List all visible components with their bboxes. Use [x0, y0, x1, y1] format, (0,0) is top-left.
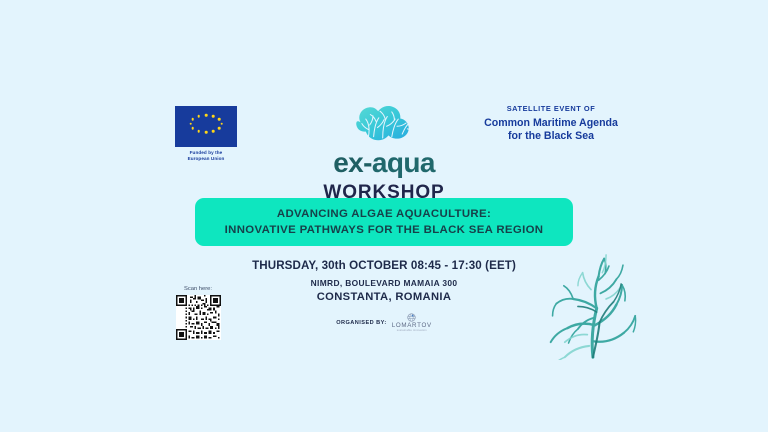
- event-details: THURSDAY, 30th OCTOBER 08:45 - 17:30 (EE…: [0, 258, 768, 305]
- brand-name: ex-aqua: [0, 148, 768, 178]
- title-banner: ADVANCING ALGAE AQUACULTURE: INNOVATIVE …: [195, 198, 573, 246]
- brand-block: ex-aqua WORKSHOP: [0, 100, 768, 204]
- event-date: THURSDAY, 30th OCTOBER 08:45 - 17:30 (EE…: [0, 258, 768, 273]
- event-city: CONSTANTA, ROMANIA: [0, 290, 768, 305]
- satellite-event-block: SATELLITE EVENT OF Common Maritime Agend…: [470, 104, 632, 142]
- globe-icon: [407, 313, 416, 322]
- organiser-tagline: sustainable innovation: [397, 330, 427, 333]
- satellite-title-line-1: Common Maritime Agenda: [470, 117, 632, 130]
- event-poster: Funded by the European Union ex-aqua WOR…: [0, 0, 768, 432]
- organiser-block: ORGANISED BY: LOMARTOV sustainable innov…: [0, 313, 768, 333]
- seaweed-illustration: [540, 252, 644, 360]
- qr-code[interactable]: [176, 295, 221, 340]
- brand-name-prefix: ex-: [333, 147, 372, 178]
- qr-label: Scan here:: [162, 285, 234, 293]
- satellite-title-line-2: for the Black Sea: [470, 130, 632, 143]
- banner-line-1: ADVANCING ALGAE AQUACULTURE:: [277, 206, 491, 222]
- brand-name-suffix: aqua: [372, 147, 435, 178]
- organiser-label: ORGANISED BY:: [336, 320, 387, 326]
- satellite-title: Common Maritime Agenda for the Black Sea: [470, 117, 632, 142]
- event-venue: NIMRD, BOULEVARD MAMAIA 300: [0, 277, 768, 290]
- satellite-kicker: SATELLITE EVENT OF: [470, 104, 632, 114]
- organiser-logo: LOMARTOV sustainable innovation: [392, 313, 432, 333]
- qr-block[interactable]: Scan here:: [162, 285, 234, 340]
- ex-aqua-coral-logo: [345, 100, 423, 146]
- banner-line-2: INNOVATIVE PATHWAYS FOR THE BLACK SEA RE…: [225, 222, 544, 238]
